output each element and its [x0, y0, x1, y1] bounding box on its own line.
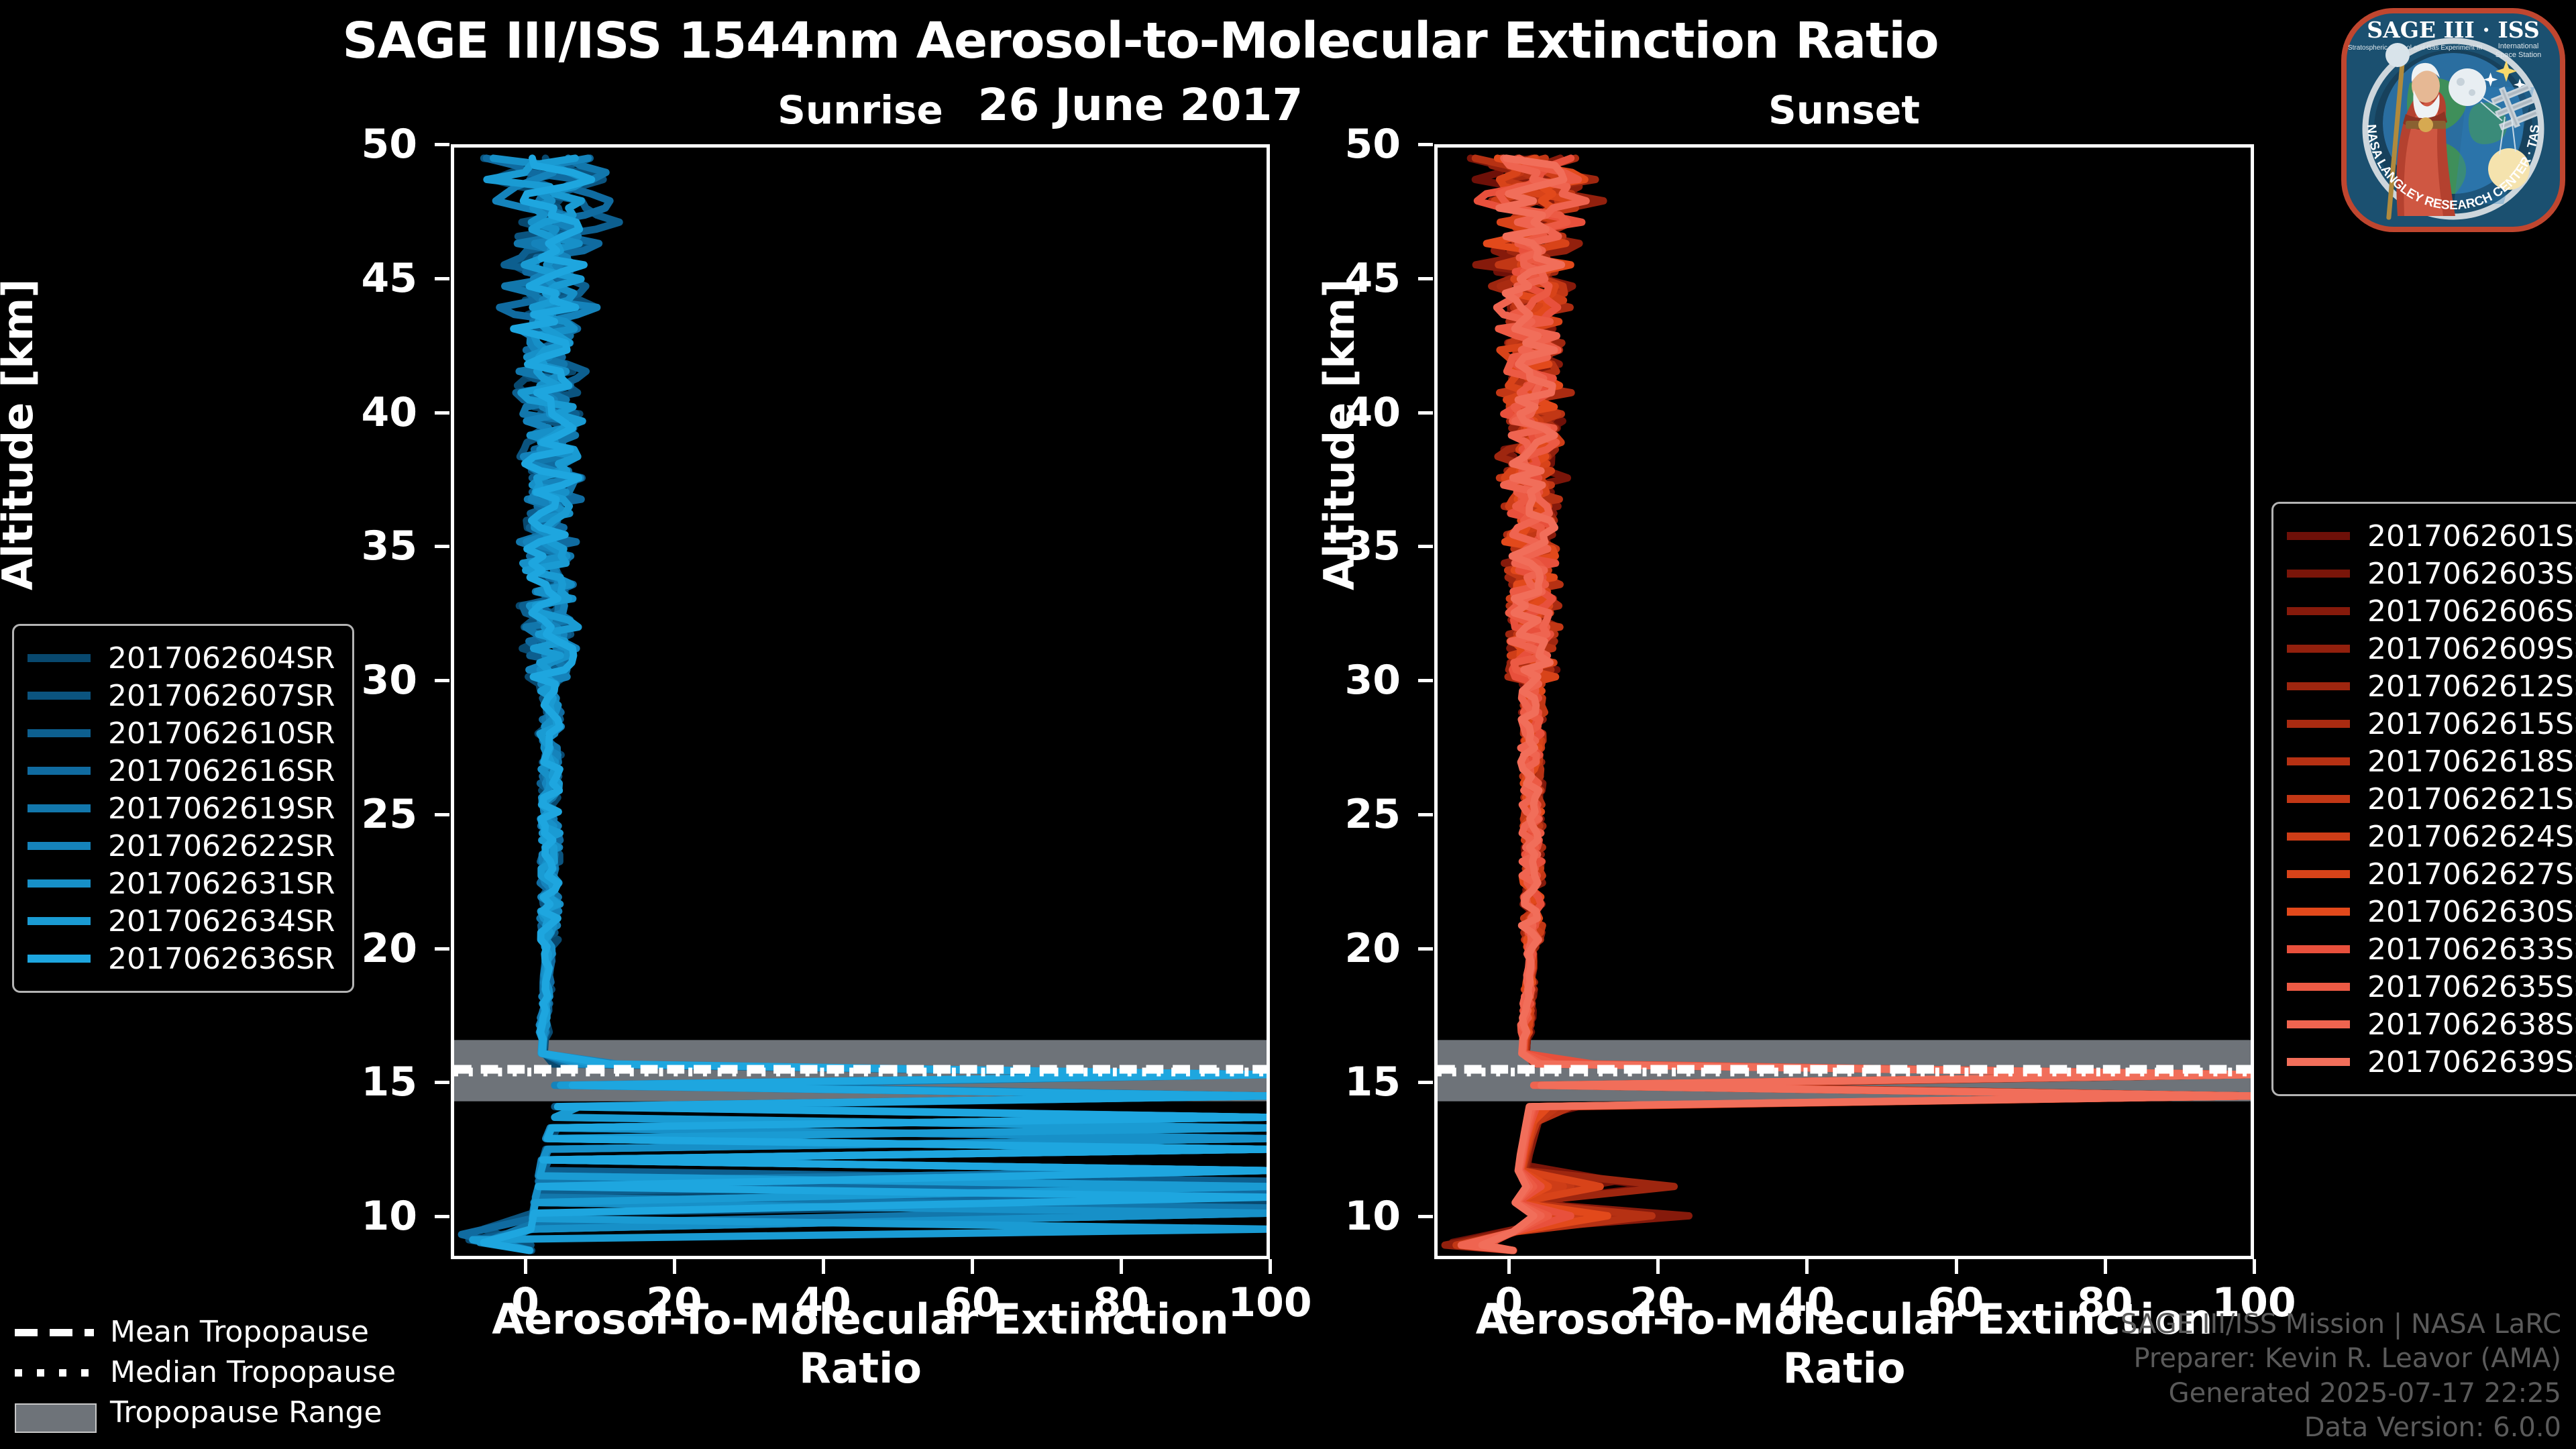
page-title: SAGE III/ISS 1544nm Aerosol-to-Molecular…	[0, 12, 2281, 70]
y-axis-title-right: Altitude [km]	[1315, 279, 1364, 590]
y-tick-mark-left-50	[435, 143, 449, 146]
y-tick-mark-right-25	[1418, 813, 1433, 816]
logo-subtitle-right-1: International	[2498, 42, 2539, 50]
y-tick-label-right-15: 15	[1293, 1059, 1401, 1106]
x-tick-mark-right-100	[2253, 1259, 2256, 1274]
legend-item-sunrise-row[interactable]: 2017062634SR	[28, 902, 335, 940]
y-tick-mark-left-30	[435, 679, 449, 682]
legend-item-sunset-row[interactable]: 2017062615SS	[2287, 705, 2576, 743]
legend-item-sunset-row[interactable]: 2017062627SS	[2287, 855, 2576, 893]
legend-color-swatch-icon	[28, 955, 91, 963]
legend-color-swatch-icon	[28, 842, 91, 850]
y-tick-mark-left-45	[435, 277, 449, 280]
logo-svg: SAGE III · ISS Stratospheric Aerosol and…	[2336, 3, 2571, 237]
legend-color-swatch-icon	[28, 804, 91, 812]
legend-item-sunrise-label: 2017062636SR	[108, 942, 335, 976]
legend-tropopause: Mean Tropopause Median Tropopause Tropop…	[15, 1311, 396, 1432]
legend-item-sunset-row[interactable]: 2017062638SS	[2287, 1006, 2576, 1043]
legend-color-swatch-icon	[2287, 945, 2350, 953]
y-tick-mark-left-15	[435, 1081, 449, 1084]
x-tick-mark-right-40	[1805, 1259, 1809, 1274]
legend-item-sunrise-label: 2017062604SR	[108, 641, 335, 676]
gray-patch-icon	[15, 1403, 94, 1421]
legend-color-swatch-icon	[2287, 1058, 2350, 1066]
logo-title: SAGE III · ISS	[2367, 17, 2539, 43]
y-tick-mark-right-40	[1418, 411, 1433, 415]
footer-line-dataversion: Data Version: 6.0.0	[2121, 1411, 2561, 1445]
y-tick-mark-right-20	[1418, 947, 1433, 951]
legend-item-sunrise-row[interactable]: 2017062622SR	[28, 827, 335, 865]
legend-item-sunrise-label: 2017062622SR	[108, 829, 335, 863]
legend-item-sunset-label: 2017062618SS	[2367, 745, 2576, 779]
legend-color-swatch-icon	[2287, 570, 2350, 578]
plot-panel-sunset	[1434, 144, 2254, 1259]
legend-item-sunset-label: 2017062627SS	[2367, 857, 2576, 892]
x-tick-mark-left-100	[1269, 1259, 1272, 1274]
legend-item-sunset-label: 2017062606SS	[2367, 594, 2576, 629]
legend-item-sunrise-row[interactable]: 2017062636SR	[28, 940, 335, 977]
legend-color-swatch-icon	[2287, 682, 2350, 690]
y-axis-title-left: Altitude [km]	[0, 279, 42, 590]
y-tick-mark-right-10	[1418, 1215, 1433, 1218]
legend-row-median-tropopause: Median Tropopause	[15, 1352, 396, 1392]
legend-item-sunset-label: 2017062609SS	[2367, 632, 2576, 666]
footer-credits: SAGE III/ISS Mission | NASA LaRC Prepare…	[2121, 1307, 2561, 1445]
legend-sunset[interactable]: 2017062601SS2017062603SS2017062606SS2017…	[2271, 502, 2576, 1096]
legend-item-sunrise-label: 2017062631SR	[108, 867, 335, 901]
legend-item-sunset-label: 2017062635SS	[2367, 970, 2576, 1004]
legend-item-sunrise-row[interactable]: 2017062604SR	[28, 639, 335, 677]
legend-item-sunset-row[interactable]: 2017062606SS	[2287, 592, 2576, 630]
legend-sunrise[interactable]: 2017062604SR2017062607SR2017062610SR2017…	[12, 624, 354, 993]
x-tick-mark-left-80	[1120, 1259, 1123, 1274]
legend-color-swatch-icon	[28, 692, 91, 700]
x-tick-mark-right-0	[1507, 1259, 1511, 1274]
legend-color-swatch-icon	[28, 654, 91, 662]
y-tick-label-left-35: 35	[310, 523, 417, 570]
legend-item-sunset-label: 2017062633SS	[2367, 932, 2576, 967]
legend-item-sunset-label: 2017062621SS	[2367, 782, 2576, 816]
legend-item-sunrise-label: 2017062607SR	[108, 679, 335, 713]
x-tick-mark-right-20	[1656, 1259, 1660, 1274]
y-tick-label-right-25: 25	[1293, 791, 1401, 838]
legend-color-swatch-icon	[28, 879, 91, 888]
panel-label-sunrise: Sunrise	[451, 87, 1270, 133]
legend-item-sunrise-label: 2017062619SR	[108, 792, 335, 826]
footer-line-preparer: Preparer: Kevin R. Leavor (AMA)	[2121, 1342, 2561, 1376]
legend-item-sunset-label: 2017062601SS	[2367, 519, 2576, 553]
dotted-line-icon	[15, 1363, 94, 1381]
legend-item-sunset-label: 2017062638SS	[2367, 1008, 2576, 1042]
y-tick-mark-left-10	[435, 1215, 449, 1218]
plot-panel-sunrise	[451, 144, 1270, 1259]
y-tick-mark-right-45	[1418, 277, 1433, 280]
legend-item-sunset-row[interactable]: 2017062609SS	[2287, 630, 2576, 667]
legend-item-sunrise-row[interactable]: 2017062610SR	[28, 714, 335, 752]
y-tick-label-left-40: 40	[310, 389, 417, 436]
legend-row-tropopause-range: Tropopause Range	[15, 1392, 396, 1432]
panel-label-sunset: Sunset	[1434, 87, 2254, 133]
y-tick-label-left-10: 10	[310, 1193, 417, 1240]
y-tick-label-right-30: 30	[1293, 657, 1401, 704]
y-tick-mark-left-40	[435, 411, 449, 415]
legend-item-sunset-row[interactable]: 2017062635SS	[2287, 968, 2576, 1006]
x-tick-mark-left-60	[971, 1259, 974, 1274]
y-tick-mark-right-35	[1418, 545, 1433, 548]
legend-item-sunrise-label: 2017062616SR	[108, 754, 335, 788]
legend-item-sunrise-row[interactable]: 2017062619SR	[28, 790, 335, 827]
y-tick-label-right-20: 20	[1293, 925, 1401, 972]
legend-item-sunset-row[interactable]: 2017062618SS	[2287, 743, 2576, 780]
legend-color-swatch-icon	[2287, 908, 2350, 916]
legend-color-swatch-icon	[2287, 757, 2350, 765]
legend-color-swatch-icon	[28, 917, 91, 925]
y-tick-mark-right-15	[1418, 1081, 1433, 1084]
legend-color-swatch-icon	[2287, 645, 2350, 653]
x-tick-mark-right-80	[2104, 1259, 2107, 1274]
footer-line-mission: SAGE III/ISS Mission | NASA LaRC	[2121, 1307, 2561, 1342]
legend-item-sunset-row[interactable]: 2017062633SS	[2287, 930, 2576, 968]
legend-item-sunset-label: 2017062603SS	[2367, 557, 2576, 591]
legend-row-mean-tropopause: Mean Tropopause	[15, 1311, 396, 1352]
logo-subtitle-right-2: Space Station	[2495, 51, 2542, 59]
y-tick-mark-right-30	[1418, 679, 1433, 682]
legend-item-sunset-row[interactable]: 2017062601SS	[2287, 517, 2576, 555]
legend-item-sunset-row[interactable]: 2017062621SS	[2287, 780, 2576, 818]
legend-item-sunrise-row[interactable]: 2017062631SR	[28, 865, 335, 902]
y-tick-label-left-15: 15	[310, 1059, 417, 1106]
x-tick-mark-left-0	[524, 1259, 527, 1274]
legend-color-swatch-icon	[2287, 720, 2350, 728]
x-tick-mark-right-60	[1955, 1259, 1958, 1274]
legend-item-sunset-label: 2017062624SS	[2367, 820, 2576, 854]
legend-item-sunrise-label: 2017062610SR	[108, 716, 335, 751]
legend-item-sunrise-row[interactable]: 2017062607SR	[28, 677, 335, 714]
legend-color-swatch-icon	[2287, 833, 2350, 841]
legend-item-sunset-row[interactable]: 2017062630SS	[2287, 893, 2576, 930]
y-tick-mark-left-25	[435, 813, 449, 816]
legend-color-swatch-icon	[28, 767, 91, 775]
legend-item-sunset-row[interactable]: 2017062603SS	[2287, 555, 2576, 592]
dashed-line-icon	[15, 1323, 94, 1340]
legend-item-sunrise-row[interactable]: 2017062616SR	[28, 752, 335, 790]
legend-item-sunset-row[interactable]: 2017062612SS	[2287, 667, 2576, 705]
logo-subtitle-left: Stratospheric Aerosol and Gas Experiment…	[2348, 44, 2482, 52]
legend-item-sunset-row[interactable]: 2017062624SS	[2287, 818, 2576, 855]
y-tick-label-left-45: 45	[310, 255, 417, 302]
legend-item-sunrise-label: 2017062634SR	[108, 904, 335, 938]
legend-item-sunset-label: 2017062630SS	[2367, 895, 2576, 929]
y-tick-mark-left-35	[435, 545, 449, 548]
x-axis-title-left: Aerosol-To-Molecular Extinction Ratio	[451, 1295, 1270, 1393]
legend-color-swatch-icon	[2287, 870, 2350, 878]
legend-item-sunset-label: 2017062639SS	[2367, 1045, 2576, 1079]
sunset-profile-canvas	[1438, 148, 2251, 1256]
legend-item-sunset-row[interactable]: 2017062639SS	[2287, 1043, 2576, 1081]
footer-line-generated: Generated 2025-07-17 22:25	[2121, 1377, 2561, 1411]
x-tick-mark-left-20	[673, 1259, 676, 1274]
x-tick-mark-left-40	[822, 1259, 825, 1274]
y-tick-label-right-10: 10	[1293, 1193, 1401, 1240]
legend-label-tropopause-range: Tropopause Range	[110, 1395, 382, 1430]
legend-item-sunset-label: 2017062612SS	[2367, 669, 2576, 704]
legend-color-swatch-icon	[2287, 1020, 2350, 1028]
legend-label-mean-tropopause: Mean Tropopause	[110, 1315, 369, 1349]
y-tick-mark-left-20	[435, 947, 449, 951]
sunrise-profile-canvas	[454, 148, 1267, 1256]
y-tick-mark-right-50	[1418, 143, 1433, 146]
legend-color-swatch-icon	[28, 729, 91, 737]
legend-item-sunset-label: 2017062615SS	[2367, 707, 2576, 741]
legend-color-swatch-icon	[2287, 532, 2350, 540]
legend-label-median-tropopause: Median Tropopause	[110, 1355, 396, 1389]
legend-color-swatch-icon	[2287, 795, 2350, 803]
sage-iii-iss-logo: SAGE III · ISS Stratospheric Aerosol and…	[2336, 3, 2571, 237]
legend-color-swatch-icon	[2287, 983, 2350, 991]
legend-color-swatch-icon	[2287, 607, 2350, 615]
